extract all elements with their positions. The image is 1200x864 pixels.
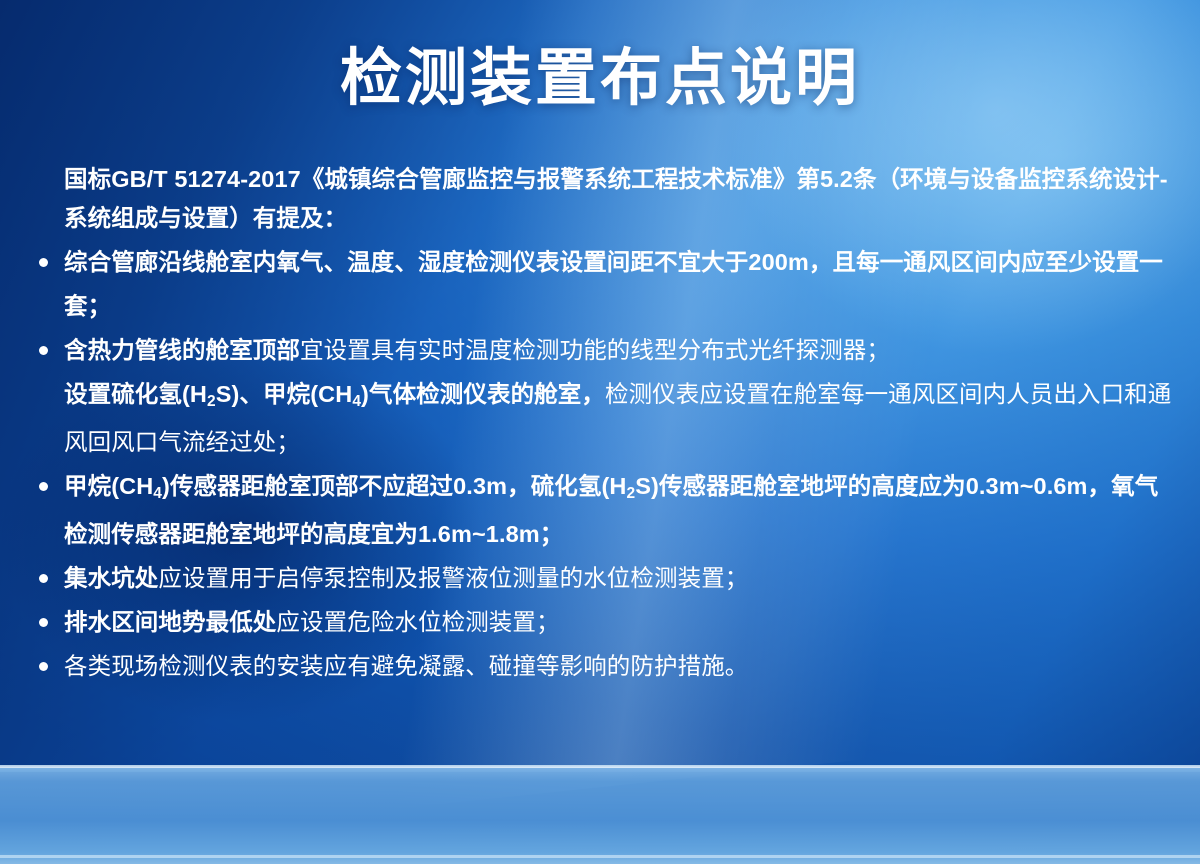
h2s-subscript: 2: [207, 393, 216, 410]
list-item-4-bold-lead: 集水坑处: [64, 565, 158, 591]
h2s-subscript: 2: [627, 485, 636, 502]
list-item-5-bold-lead: 排水区间地势最低处: [64, 609, 276, 635]
list-item-3-seg-a: 甲烷(CH: [64, 473, 153, 499]
slide-content: 检测装置布点说明 国标GB/T 51274-2017《城镇综合管廊监控与报警系统…: [0, 0, 1200, 864]
list-item-3: 甲烷(CH4)传感器距舱室顶部不应超过0.3m，硫化氢(H2S)传感器距舱室地坪…: [30, 464, 1175, 556]
list-item-2-line2-bold-post: )气体检测仪表的舱室，: [361, 381, 605, 407]
bullet-dot-icon: [39, 662, 48, 671]
list-item-2-bold-lead: 含热力管线的舱室顶部: [64, 337, 300, 363]
bullet-dot-icon: [39, 574, 48, 583]
list-item-2-line2-bold-pre: 设置硫化氢(H: [64, 381, 207, 407]
page-title: 检测装置布点说明: [0, 46, 1200, 111]
list-item-2: 含热力管线的舱室顶部宜设置具有实时温度检测功能的线型分布式光纤探测器； 设置硫化…: [30, 328, 1175, 464]
list-item-2-rest: 宜设置具有实时温度检测功能的线型分布式光纤探测器；: [300, 337, 890, 363]
list-item-2-line2-bold-mid: S)、甲烷(CH: [216, 381, 353, 407]
intro-text: 国标GB/T 51274-2017《城镇综合管廊监控与报警系统工程技术标准》第5…: [64, 166, 1168, 231]
list-item-4-rest: 应设置用于启停泵控制及报警液位测量的水位检测装置；: [158, 565, 748, 591]
bullet-dot-icon: [39, 482, 48, 491]
bullet-dot-icon: [39, 258, 48, 267]
bullet-list: 综合管廊沿线舱室内氧气、温度、湿度检测仪表设置间距不宜大于200m，且每一通风区…: [30, 240, 1175, 688]
body-text-block: 国标GB/T 51274-2017《城镇综合管廊监控与报警系统工程技术标准》第5…: [30, 160, 1175, 688]
intro-paragraph: 国标GB/T 51274-2017《城镇综合管廊监控与报警系统工程技术标准》第5…: [30, 160, 1175, 238]
list-item-1: 综合管廊沿线舱室内氧气、温度、湿度检测仪表设置间距不宜大于200m，且每一通风区…: [30, 240, 1175, 328]
list-item-6: 各类现场检测仪表的安装应有避免凝露、碰撞等影响的防护措施。: [30, 644, 1175, 688]
list-item-4: 集水坑处应设置用于启停泵控制及报警液位测量的水位检测装置；: [30, 556, 1175, 600]
bullet-dot-icon: [39, 618, 48, 627]
slide-canvas: 检测装置布点说明 国标GB/T 51274-2017《城镇综合管廊监控与报警系统…: [0, 0, 1200, 864]
ch4-subscript: 4: [153, 485, 162, 502]
list-item-5: 排水区间地势最低处应设置危险水位检测装置；: [30, 600, 1175, 644]
list-item-5-rest: 应设置危险水位检测装置；: [276, 609, 559, 635]
list-item-6-text: 各类现场检测仪表的安装应有避免凝露、碰撞等影响的防护措施。: [64, 653, 748, 679]
bullet-dot-icon: [39, 346, 48, 355]
list-item-1-text: 综合管廊沿线舱室内氧气、温度、湿度检测仪表设置间距不宜大于200m，且每一通风区…: [64, 249, 1163, 319]
list-item-3-seg-b: )传感器距舱室顶部不应超过0.3m，硫化氢(H: [162, 473, 627, 499]
ch4-subscript: 4: [352, 393, 361, 410]
